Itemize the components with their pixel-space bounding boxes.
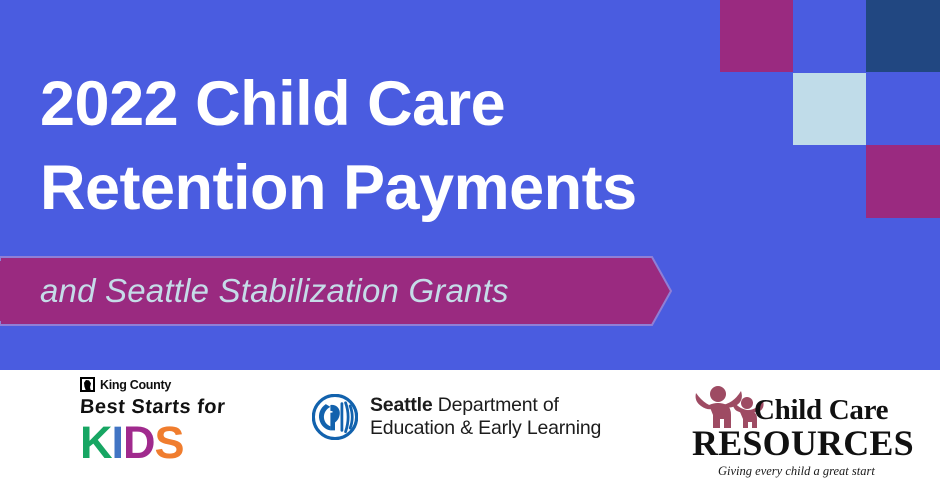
seattle-deel-text: Seattle Department of Education & Early …: [370, 394, 601, 440]
kids-letter-k: K: [80, 417, 112, 468]
hero-section: 2022 Child Care Retention Payments and S…: [0, 0, 940, 370]
headline-line-1: 2022 Child Care: [40, 62, 760, 146]
promotional-banner: 2022 Child Care Retention Payments and S…: [0, 0, 940, 485]
decor-square-magenta-bottom-right: [866, 145, 940, 218]
seattle-deel-line-1: Seattle Department of: [370, 394, 601, 417]
page-title: 2022 Child Care Retention Payments: [40, 62, 760, 230]
king-county-badge-icon: [80, 377, 95, 392]
subtitle-ribbon: and Seattle Stabilization Grants: [0, 256, 672, 326]
king-county-lockup: King County: [80, 376, 250, 393]
decor-square-light-blue: [793, 73, 866, 145]
subtitle-text: and Seattle Stabilization Grants: [40, 256, 509, 326]
ccr-line-child-care: Child Care: [754, 394, 888, 427]
seattle-bold-word: Seattle: [370, 394, 433, 416]
king-county-label: King County: [100, 378, 171, 392]
ccr-top-row: Child Care: [692, 384, 882, 428]
kids-letter-i: I: [112, 417, 124, 468]
ccr-line-resources: RESOURCES: [692, 426, 882, 460]
kids-letter-s: S: [155, 417, 184, 468]
seattle-city-seal-icon: [312, 394, 358, 440]
decor-square-navy-top-right: [866, 0, 940, 72]
kids-letter-d: D: [123, 417, 155, 468]
logo-child-care-resources: Child Care RESOURCES Giving every child …: [692, 384, 882, 479]
partner-logo-strip: King County Best Starts for KIDS Seattle…: [0, 370, 940, 485]
best-starts-script-line: Best Starts for: [79, 396, 251, 419]
kids-wordmark: KIDS: [80, 420, 250, 466]
headline-line-2: Retention Payments: [40, 146, 760, 230]
seattle-deel-line-2: Education & Early Learning: [370, 417, 601, 440]
ccr-tagline: Giving every child a great start: [718, 464, 882, 479]
logo-seattle-deel: Seattle Department of Education & Early …: [312, 394, 601, 440]
logo-best-starts-for-kids: King County Best Starts for KIDS: [80, 376, 250, 466]
seattle-deel-line-1-rest: Department of: [433, 394, 559, 416]
